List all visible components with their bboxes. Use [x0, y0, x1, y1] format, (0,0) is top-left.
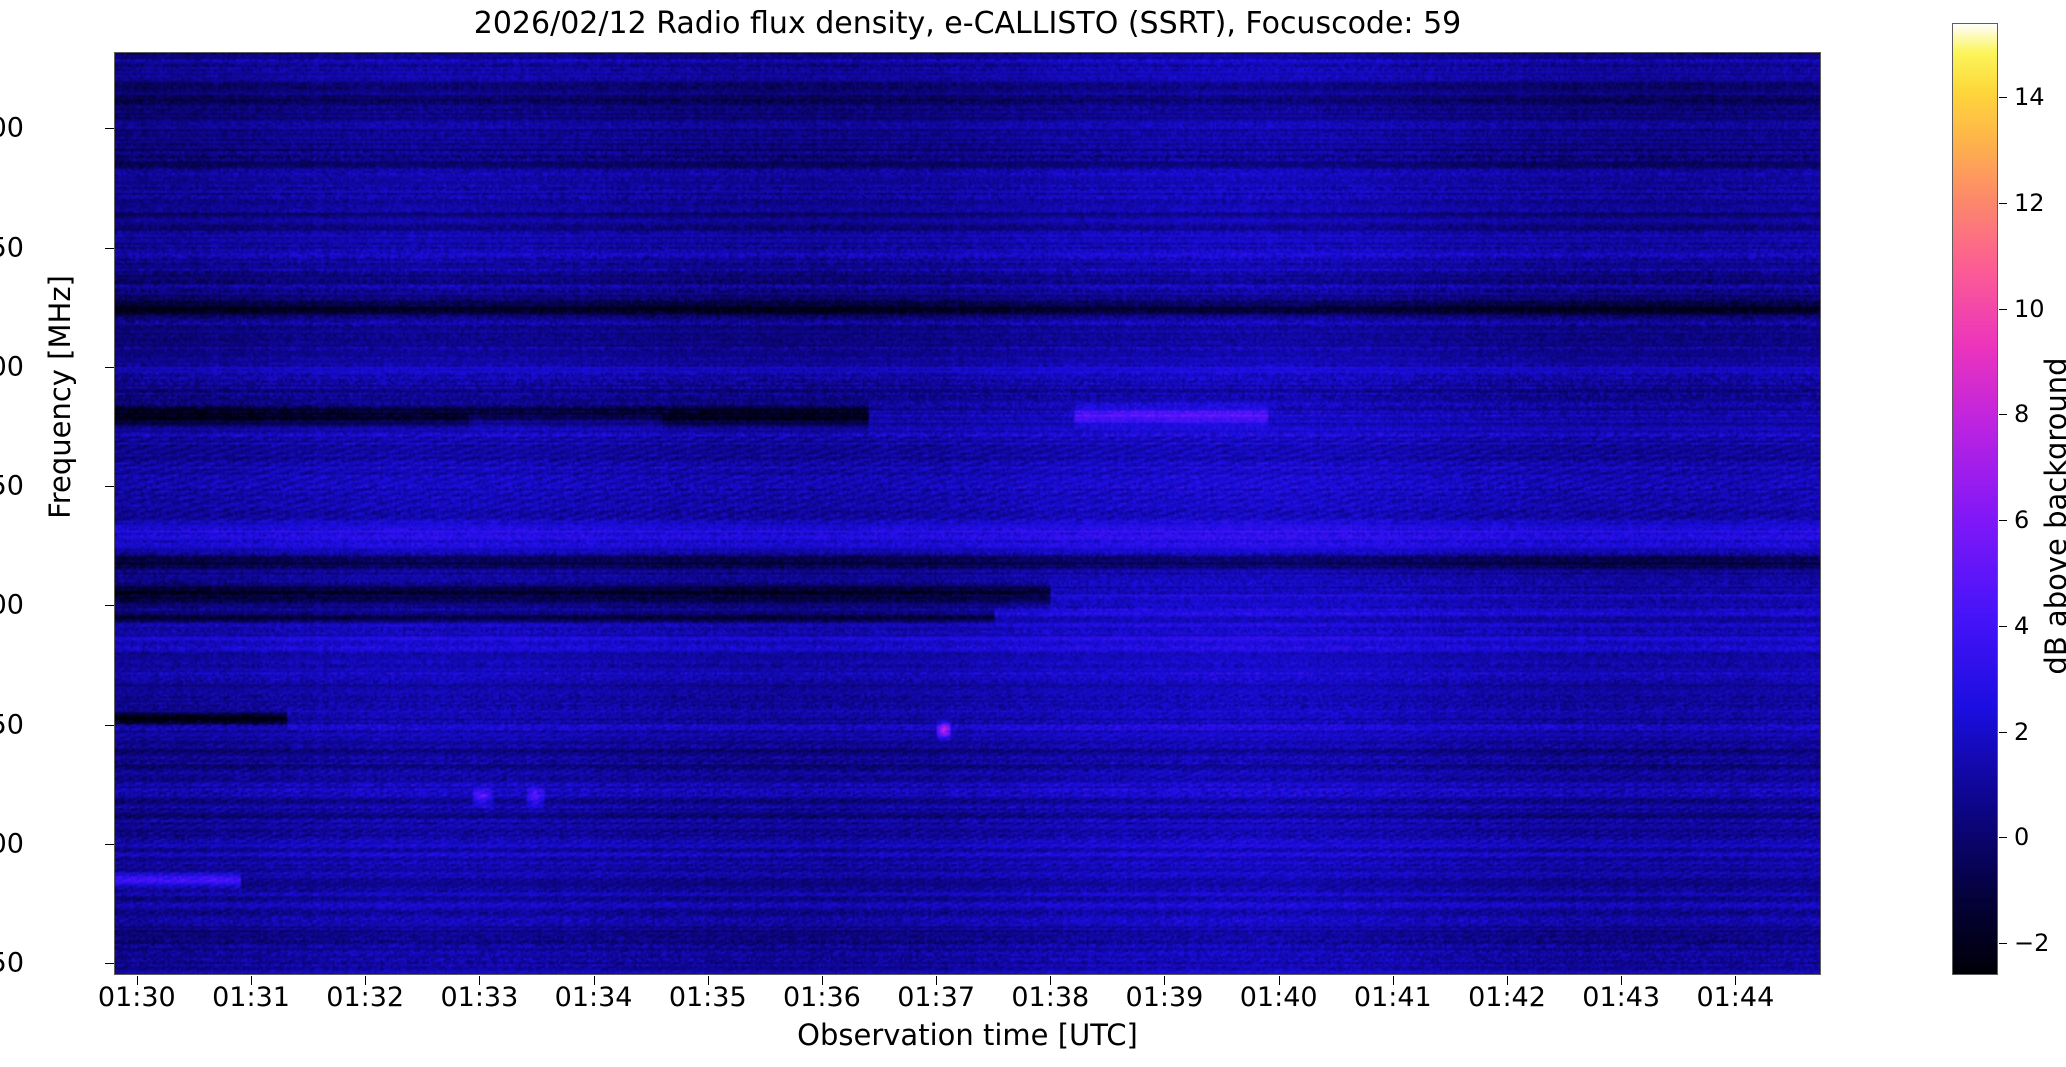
page-title: 2026/02/12 Radio flux density, e-CALLIST…	[114, 4, 1821, 44]
x-tick-label-01-41: 01:41	[1354, 982, 1432, 1013]
x-tick-mark	[594, 976, 595, 985]
spectrogram-axes	[114, 52, 1821, 975]
x-tick-label-01-40: 01:40	[1240, 982, 1318, 1013]
x-tick-mark	[708, 976, 709, 985]
y-tick-label-150: 150	[0, 709, 24, 740]
x-tick-label-01-33: 01:33	[440, 982, 518, 1013]
y-tick-mark	[105, 128, 114, 129]
y-tick-label-250: 250	[0, 471, 24, 502]
colorbar	[1952, 23, 1998, 975]
x-tick-mark	[137, 976, 138, 985]
x-tick-label-01-31: 01:31	[212, 982, 290, 1013]
y-tick-mark	[105, 486, 114, 487]
x-tick-label-01-42: 01:42	[1468, 982, 1546, 1013]
x-tick-label-01-39: 01:39	[1126, 982, 1204, 1013]
x-tick-label-01-32: 01:32	[326, 982, 404, 1013]
colorbar-tick-mark	[1999, 97, 2007, 98]
colorbar-tick-label-3: 4	[2014, 612, 2029, 640]
colorbar-label: dB above background	[2039, 306, 2066, 726]
spectrogram-heatmap	[115, 53, 1821, 975]
y-tick-mark	[105, 725, 114, 726]
x-tick-mark	[479, 976, 480, 985]
x-tick-mark	[1507, 976, 1508, 985]
colorbar-tick-label-2: 2	[2014, 718, 2029, 746]
x-tick-mark	[936, 976, 937, 985]
y-tick-mark	[105, 844, 114, 845]
x-axis-label: Observation time [UTC]	[114, 1018, 1821, 1052]
colorbar-tick-mark	[1999, 837, 2007, 838]
y-tick-mark	[105, 248, 114, 249]
colorbar-tick-label-7: 12	[2014, 189, 2045, 217]
y-tick-label-50: 50	[0, 948, 24, 979]
colorbar-tick-mark	[1999, 203, 2007, 204]
x-tick-mark	[1164, 976, 1165, 985]
colorbar-tick-label-0: −2	[2014, 929, 2049, 957]
y-tick-label-350: 350	[0, 232, 24, 263]
colorbar-tick-label-5: 8	[2014, 400, 2029, 428]
y-tick-mark	[105, 367, 114, 368]
y-tick-label-400: 400	[0, 113, 24, 144]
colorbar-tick-label-4: 6	[2014, 506, 2029, 534]
x-tick-label-01-34: 01:34	[555, 982, 633, 1013]
colorbar-tick-label-8: 14	[2014, 83, 2045, 111]
x-tick-label-01-37: 01:37	[897, 982, 975, 1013]
colorbar-tick-mark	[1999, 309, 2007, 310]
x-tick-mark	[365, 976, 366, 985]
x-tick-mark	[1393, 976, 1394, 985]
x-tick-mark	[1279, 976, 1280, 985]
y-axis-label: Frequency [MHz]	[43, 187, 77, 607]
colorbar-gradient	[1953, 24, 1997, 974]
y-tick-label-100: 100	[0, 828, 24, 859]
y-tick-label-200: 200	[0, 590, 24, 621]
y-tick-mark	[105, 605, 114, 606]
x-tick-mark	[1621, 976, 1622, 985]
colorbar-tick-mark	[1999, 943, 2007, 944]
colorbar-tick-label-1: 0	[2014, 823, 2029, 851]
x-tick-label-01-44: 01:44	[1696, 982, 1774, 1013]
x-tick-mark	[1050, 976, 1051, 985]
colorbar-tick-mark	[1999, 520, 2007, 521]
x-tick-mark	[251, 976, 252, 985]
x-tick-label-01-35: 01:35	[669, 982, 747, 1013]
x-tick-label-01-43: 01:43	[1582, 982, 1660, 1013]
colorbar-tick-mark	[1999, 414, 2007, 415]
x-tick-mark	[1735, 976, 1736, 985]
x-tick-label-01-30: 01:30	[98, 982, 176, 1013]
x-tick-label-01-36: 01:36	[783, 982, 861, 1013]
y-tick-label-300: 300	[0, 351, 24, 382]
colorbar-tick-mark	[1999, 732, 2007, 733]
y-tick-mark	[105, 963, 114, 964]
x-tick-label-01-38: 01:38	[1011, 982, 1089, 1013]
colorbar-tick-mark	[1999, 626, 2007, 627]
x-tick-mark	[822, 976, 823, 985]
